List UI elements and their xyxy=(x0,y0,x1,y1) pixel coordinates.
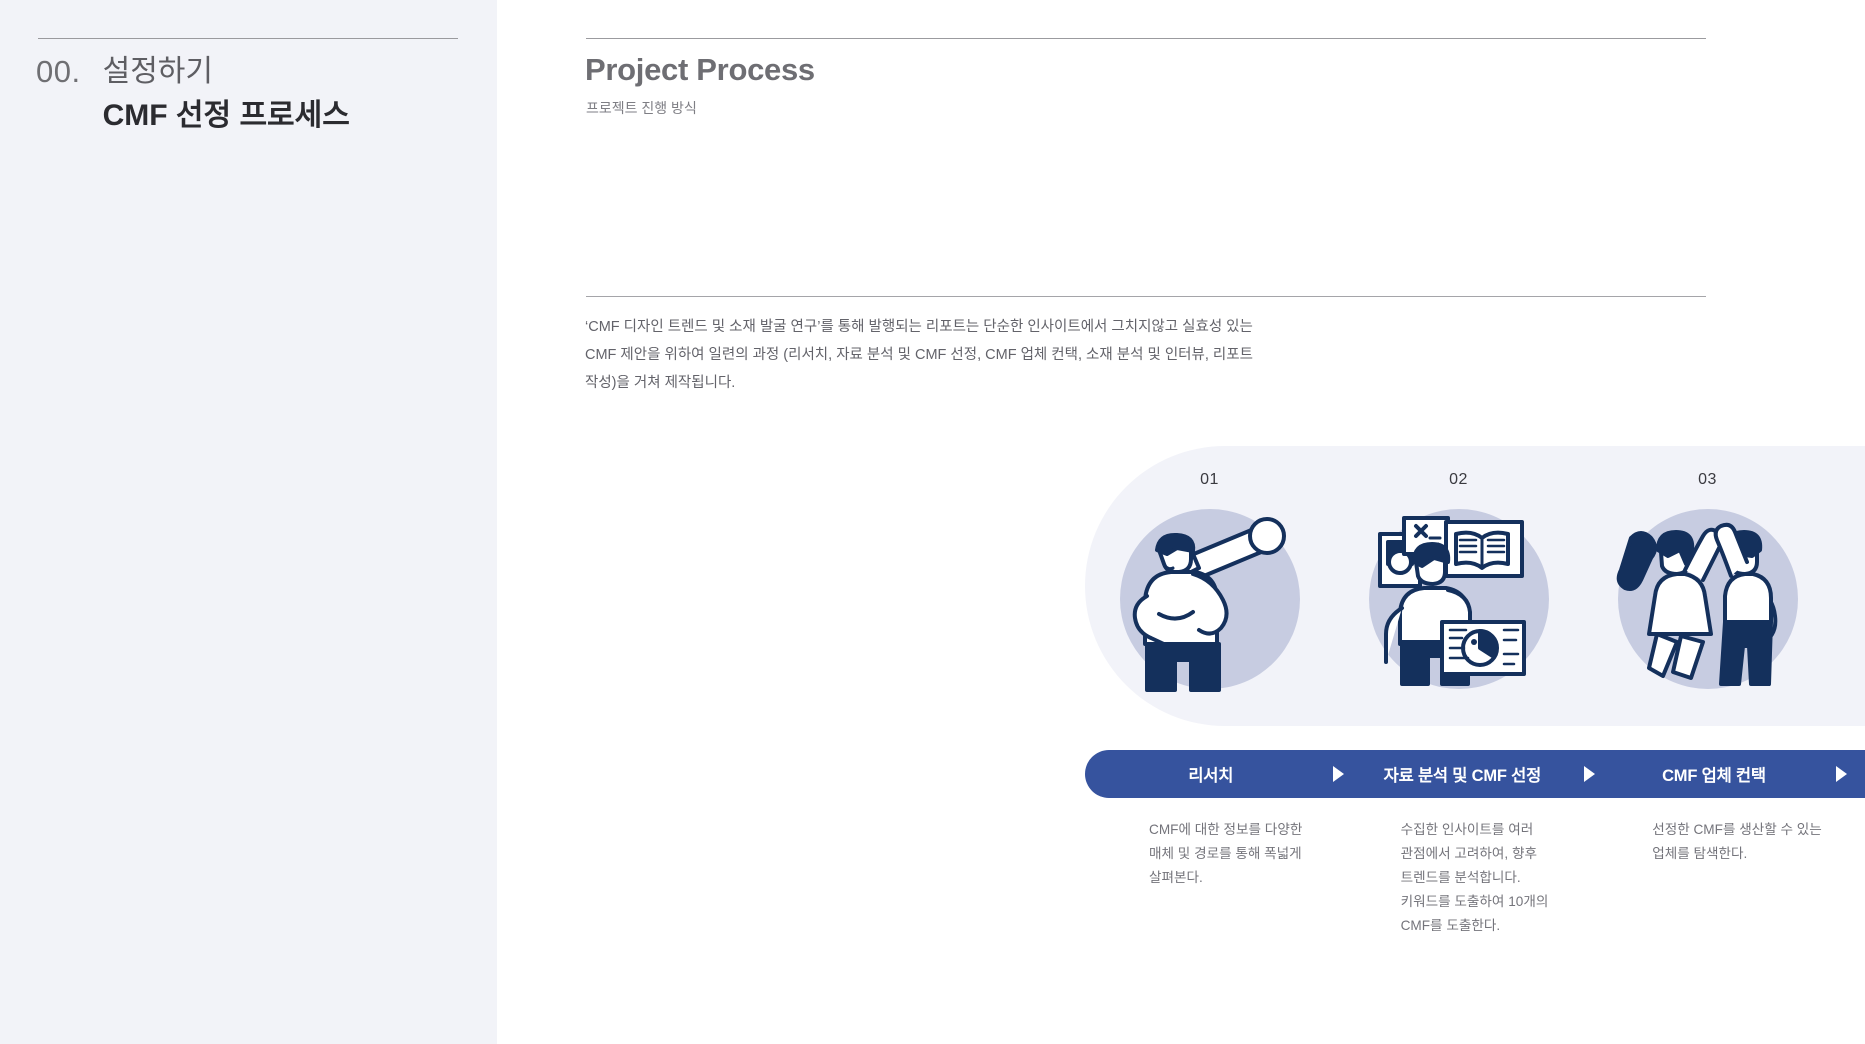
step-illustration-04 xyxy=(1854,496,1865,701)
lead-paragraph: ‘CMF 디자인 트렌드 및 소재 발굴 연구’를 통해 발행되는 리포트는 단… xyxy=(585,313,1265,397)
main-content: Project Process 프로젝트 진행 방식 ‘CMF 디자인 트렌드 … xyxy=(497,0,1865,1044)
page-title: Project Process xyxy=(585,52,815,88)
telescope-observer-icon xyxy=(1115,504,1305,694)
page-subtitle: 프로젝트 진행 방식 xyxy=(586,98,697,118)
content-divider xyxy=(586,296,1706,297)
process-description-01: CMF에 대한 정보를 다양한 매체 및 경로를 통해 폭넓게 살펴본다. xyxy=(1149,818,1321,890)
slide-page: 00. 설정하기 CMF 선정 프로세스 Project Process 프로젝… xyxy=(0,0,1865,1044)
process-step-03: 03 xyxy=(1583,446,1832,726)
sidebar-title-line2: CMF 선정 프로세스 xyxy=(103,94,350,138)
process-bar-label-02: 자료 분석 및 CMF 선정 xyxy=(1384,762,1542,786)
header-divider xyxy=(586,38,1706,39)
step-illustration-03 xyxy=(1605,496,1810,701)
process-description-03: 선정한 CMF를 생산할 수 있는 업체를 탐색한다. xyxy=(1652,818,1824,866)
sidebar-title-line1: 설정하기 xyxy=(103,50,350,94)
process-bar-item-01[interactable]: 리서치 xyxy=(1085,750,1337,798)
process-steps-row: 01 xyxy=(1085,446,1865,726)
high-five-team-icon xyxy=(1613,504,1803,694)
step-illustration-02 xyxy=(1356,496,1561,701)
step-number-01: 01 xyxy=(1200,471,1219,489)
lead-paragraph-line1: ‘CMF 디자인 트렌드 및 소재 발굴 연구’를 통해 발행되는 리포트는 단… xyxy=(585,313,1265,341)
step-number-02: 02 xyxy=(1449,471,1468,489)
lead-paragraph-line3: 작성)을 거쳐 제작됩니다. xyxy=(585,369,1265,397)
step-illustration-01 xyxy=(1107,496,1312,701)
process-step-04: 04 xyxy=(1832,446,1865,726)
interview-conversation-icon xyxy=(1862,504,1865,694)
process-bar-label-01: 리서치 xyxy=(1188,762,1233,786)
sidebar: 00. 설정하기 CMF 선정 프로세스 xyxy=(0,0,497,1044)
sidebar-title-block: 00. 설정하기 CMF 선정 프로세스 xyxy=(36,50,466,137)
process-bar-item-04[interactable]: CMF 분석 및 인터뷰 xyxy=(1840,750,1865,798)
process-bar-item-03[interactable]: CMF 업체 컨택 xyxy=(1588,750,1840,798)
step-number-03: 03 xyxy=(1698,471,1717,489)
process-bar-item-02[interactable]: 자료 분석 및 CMF 선정 xyxy=(1337,750,1589,798)
process-bar-label-03: CMF 업체 컨택 xyxy=(1662,762,1766,786)
process-step-02: 02 xyxy=(1334,446,1583,726)
process-description-02: 수집한 인사이트를 여러 관점에서 고려하여, 향후 트렌드를 분석합니다. 키… xyxy=(1401,818,1573,938)
process-label-bar: 리서치 자료 분석 및 CMF 선정 CMF 업체 컨택 CMF 분석 및 인터… xyxy=(1085,750,1865,798)
process-step-01: 01 xyxy=(1085,446,1334,726)
sidebar-section-number: 00. xyxy=(36,50,81,95)
data-analysis-icon xyxy=(1364,504,1554,694)
sidebar-divider xyxy=(38,38,458,39)
lead-paragraph-line2: CMF 제안을 위하여 일련의 과정 (리서치, 자료 분석 및 CMF 선정,… xyxy=(585,341,1265,369)
sidebar-title-lines: 설정하기 CMF 선정 프로세스 xyxy=(103,50,350,137)
